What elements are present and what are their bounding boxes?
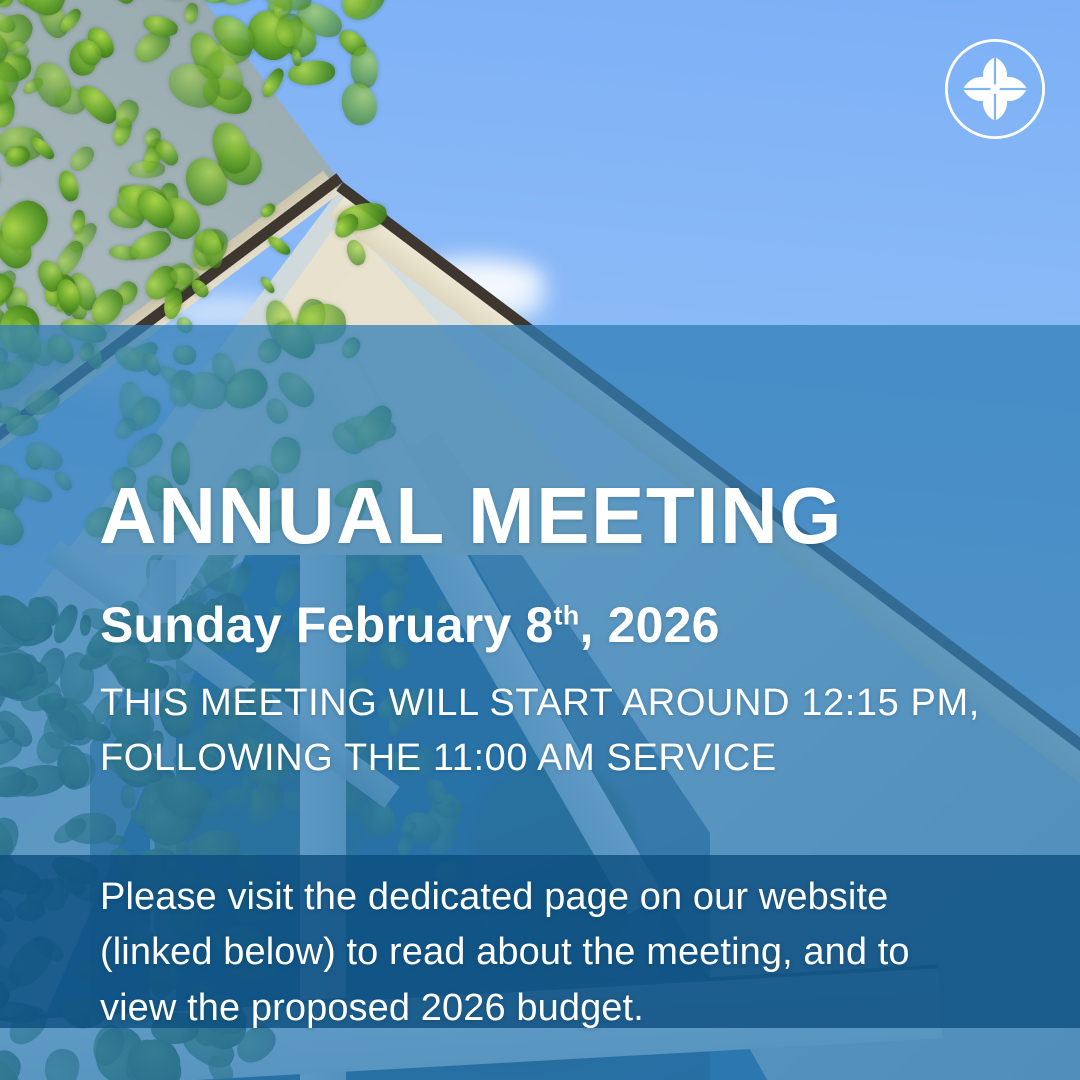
body-copy: Please visit the dedicated page on our w…	[100, 870, 1030, 1036]
poster-text: ANNUAL MEETING Sunday February 8th, 2026…	[0, 0, 1080, 1080]
event-date-prefix: Sunday February 8	[100, 597, 554, 653]
annual-meeting-poster: ANNUAL MEETING Sunday February 8th, 2026…	[0, 0, 1080, 1080]
body-copy-line: (linked below) to read about the meeting…	[100, 925, 1030, 980]
event-date: Sunday February 8th, 2026	[100, 600, 720, 650]
event-date-year: , 2026	[579, 597, 719, 653]
event-time-note-line: THIS MEETING WILL START AROUND 12:15 PM,	[100, 676, 980, 731]
event-time-note-line: FOLLOWING THE 11:00 AM SERVICE	[100, 731, 980, 786]
event-date-ordinal: th	[554, 600, 580, 630]
page-title: ANNUAL MEETING	[99, 476, 843, 556]
body-copy-line: Please visit the dedicated page on our w…	[100, 870, 1030, 925]
event-time-note: THIS MEETING WILL START AROUND 12:15 PM,…	[100, 676, 980, 786]
body-copy-line: view the proposed 2026 budget.	[100, 981, 1030, 1036]
